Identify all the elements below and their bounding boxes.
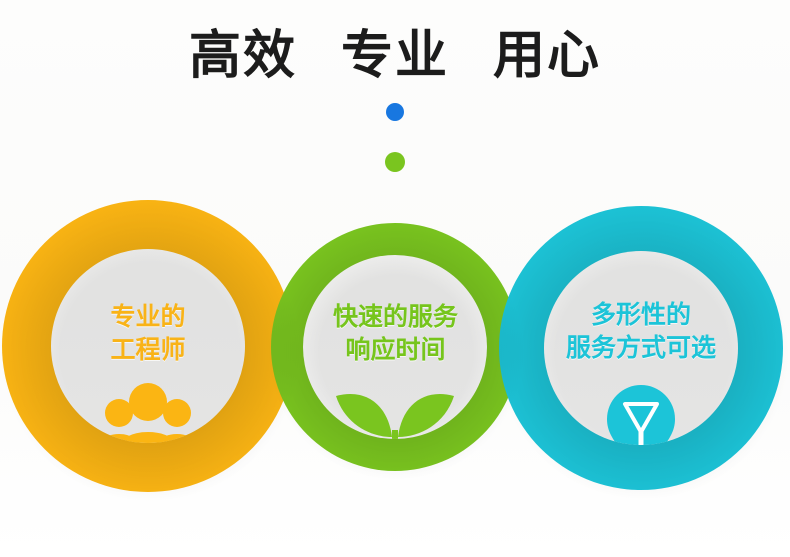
circle-label-engineers-line-1: 专业的: [48, 300, 248, 333]
circle-label-engineers-line-2: 工程师: [48, 333, 248, 366]
poster-canvas: 高效专业用心: [0, 0, 790, 557]
circle-label-service-modes-line-1: 多形性的: [530, 298, 752, 331]
venn-rings-graphic: [0, 0, 790, 557]
circle-label-response-line-1: 快速的服务: [293, 300, 498, 333]
circle-label-response-line-2: 响应时间: [293, 333, 498, 366]
circle-label-service-modes: 多形性的 服务方式可选: [530, 298, 752, 364]
ring-service-modes: [0, 0, 790, 557]
circle-label-service-modes-line-2: 服务方式可选: [530, 331, 752, 364]
circle-label-response: 快速的服务 响应时间: [293, 300, 498, 366]
circle-label-engineers: 专业的 工程师: [48, 300, 248, 366]
